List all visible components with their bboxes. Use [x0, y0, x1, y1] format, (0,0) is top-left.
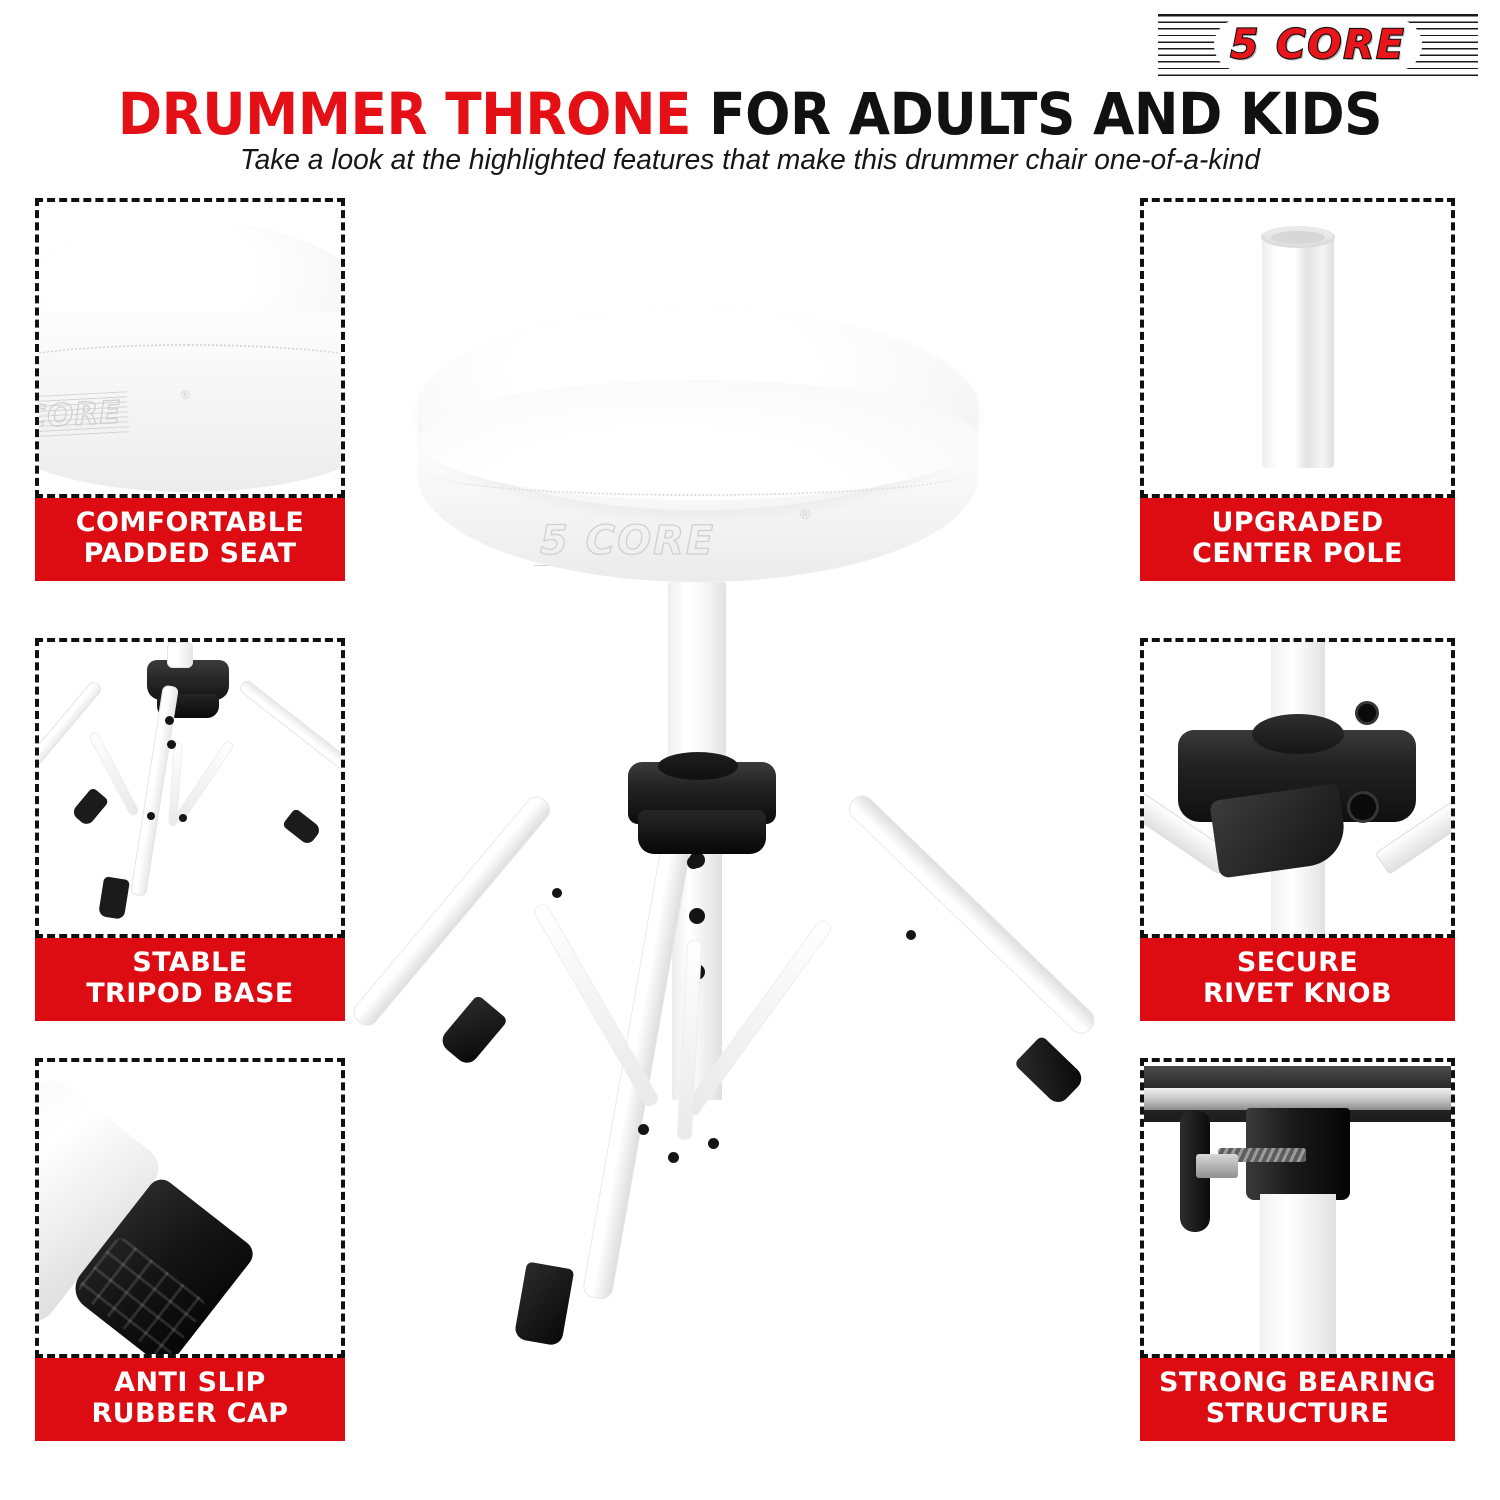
callout-image-frame [1140, 198, 1455, 498]
tripod-rivet [165, 716, 174, 725]
callout-image-frame [1140, 1058, 1455, 1358]
tripod-rivet [179, 814, 187, 822]
callout-badge-line2: CENTER POLE [1144, 538, 1451, 569]
callout-badge: COMFORTABLE PADDED SEAT [35, 498, 345, 581]
page-subtitle: Take a look at the highlighted features … [23, 144, 1478, 177]
knob-rivet-hole [1350, 794, 1376, 820]
hero-rivet [638, 1124, 649, 1135]
callout-badge-line2: STRUCTURE [1144, 1398, 1451, 1429]
callout-badge-line1: COMFORTABLE [76, 507, 304, 538]
padded-seat-closeup-image: 5 CORE ® [39, 202, 341, 494]
callout-badge-line1: SECURE [1237, 947, 1358, 978]
callout-badge-line1: UPGRADED [1211, 507, 1383, 538]
knob-rivet-hole [1358, 704, 1376, 722]
page-title: DRUMMER THRONE FOR ADULTS AND KIDS [60, 80, 1440, 148]
knob-collar-ring [1252, 714, 1344, 754]
hero-rivet [708, 1138, 719, 1149]
callout-image-frame: 5 CORE ® [35, 198, 345, 498]
brand-logo: 5 CORE [1158, 14, 1478, 76]
callout-badge: STABLE TRIPOD BASE [35, 938, 345, 1021]
center-pole-tube [1262, 236, 1334, 468]
logo-wordmark: 5 CORE [1214, 19, 1421, 71]
emboss-stripes [534, 515, 721, 567]
tripod-rivet [167, 740, 176, 749]
hero-foot-left [438, 994, 508, 1067]
center-pole-closeup-image [1144, 202, 1451, 494]
rivet-knob-closeup-image [1144, 642, 1451, 934]
tripod-base-closeup-image [39, 642, 341, 934]
callout-badge-line1: ANTI SLIP [114, 1367, 265, 1398]
tripod-leg-right [238, 678, 345, 781]
callout-badge: UPGRADED CENTER POLE [1140, 498, 1455, 581]
seat-embossed-logo: 5 CORE [35, 395, 122, 438]
tripod-brace-right [173, 739, 235, 824]
callout-badge: STRONG BEARING STRUCTURE [1140, 1358, 1455, 1441]
hero-rivet [687, 856, 700, 869]
tripod-center-pole [167, 642, 193, 668]
hero-leg-right [844, 791, 1099, 1039]
page-title-highlight: DRUMMER THRONE [118, 80, 691, 148]
callout-stable-tripod-base: STABLE TRIPOD BASE [35, 638, 345, 1021]
hero-registered-mark: ® [800, 506, 810, 522]
hero-leg-left [349, 792, 555, 1031]
callout-badge-line2: RUBBER CAP [39, 1398, 341, 1429]
callout-badge: ANTI SLIP RUBBER CAP [35, 1358, 345, 1441]
emboss-stripes [35, 391, 129, 441]
hero-rivet [552, 888, 562, 898]
callout-image-frame [35, 1058, 345, 1358]
hero-hub-lever [638, 810, 766, 854]
hero-seat-stitch-line [430, 450, 966, 496]
tripod-foot-front [98, 876, 130, 920]
callout-badge-line2: TRIPOD BASE [39, 978, 341, 1009]
callout-comfortable-padded-seat: 5 CORE ® COMFORTABLE PADDED SEAT [35, 198, 345, 581]
callout-image-frame [1140, 638, 1455, 938]
callout-badge-line2: PADDED SEAT [39, 538, 341, 569]
callout-badge-line1: STRONG BEARING [1159, 1367, 1436, 1398]
callout-anti-slip-rubber-cap: ANTI SLIP RUBBER CAP [35, 1058, 345, 1441]
bearing-structure-closeup-image [1144, 1062, 1451, 1354]
callout-badge-line1: STABLE [132, 947, 247, 978]
hero-foot-right [1014, 1035, 1086, 1107]
product-hero-image: 5 CORE ® [400, 300, 1100, 1410]
registered-mark: ® [181, 388, 190, 402]
center-pole-bore [1271, 231, 1325, 244]
knob-wing-lever [1209, 783, 1349, 878]
hero-foot-front [514, 1261, 575, 1346]
bearing-screw-nut [1196, 1154, 1238, 1178]
callout-badge: SECURE RIVET KNOB [1140, 938, 1455, 1021]
tripod-rivet [147, 812, 155, 820]
hero-hub-collar [658, 752, 738, 780]
seat-stitch-line [35, 344, 345, 370]
callout-image-frame [35, 638, 345, 938]
callout-badge-line2: RIVET KNOB [1144, 978, 1451, 1009]
callout-upgraded-center-pole: UPGRADED CENTER POLE [1140, 198, 1455, 581]
tripod-foot-right [282, 808, 322, 846]
callout-strong-bearing-structure: STRONG BEARING STRUCTURE [1140, 1058, 1455, 1441]
page-title-rest: FOR ADULTS AND KIDS [691, 80, 1382, 148]
callout-secure-rivet-knob: SECURE RIVET KNOB [1140, 638, 1455, 1021]
tripod-foot-left [71, 787, 110, 827]
hero-rivet [668, 1152, 679, 1163]
rubber-cap-closeup-image [39, 1062, 341, 1354]
height-adjust-hole [689, 908, 705, 924]
bearing-shaft [1260, 1194, 1336, 1358]
hero-seat-embossed-logo: 5 CORE [540, 518, 715, 564]
hero-rivet [906, 930, 916, 940]
seat-plate-bracket [1140, 1088, 1455, 1110]
